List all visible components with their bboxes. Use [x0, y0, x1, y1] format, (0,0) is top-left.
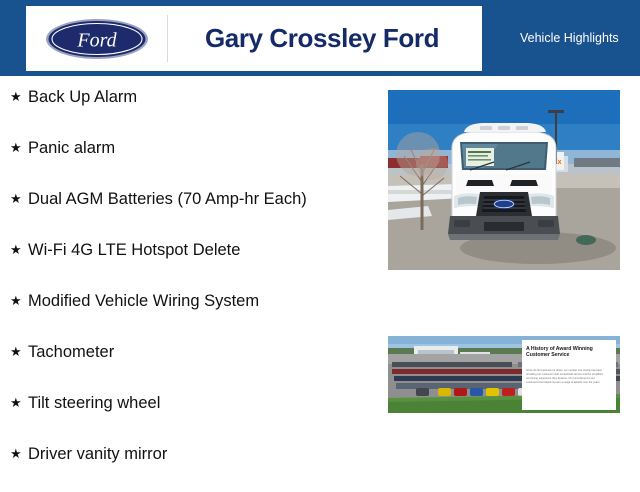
star-bullet-icon: ★: [10, 84, 28, 110]
list-item: ★Wi-Fi 4G LTE Hotspot Delete: [0, 237, 372, 263]
vehicle-highlights-list: ★Back Up Alarm★Panic alarm★Dual AGM Batt…: [0, 84, 372, 492]
highlight-label: Modified Vehicle Wiring System: [28, 288, 366, 314]
award-card-body: Since we first opened our doors, our num…: [526, 369, 606, 385]
star-bullet-icon: ★: [10, 135, 28, 161]
award-card-heading: A History of Award Winning Customer Serv…: [526, 346, 604, 359]
star-bullet-icon: ★: [10, 441, 28, 467]
vehicle-photo[interactable]: Fed Ex: [388, 90, 620, 270]
ford-wordmark: Ford: [76, 29, 117, 51]
page-header: Ford Gary Crossley Ford Vehicle Highligh…: [0, 0, 640, 76]
list-item: ★Tilt steering wheel: [0, 390, 372, 416]
dealer-name: Gary Crossley Ford: [168, 23, 482, 54]
highlight-label: Tachometer: [28, 339, 366, 365]
list-item: ★Modified Vehicle Wiring System: [0, 288, 372, 314]
list-item: ★Driver vanity mirror: [0, 441, 372, 467]
ford-oval-logo-icon: Ford: [26, 6, 167, 71]
highlight-label: Driver vanity mirror: [28, 441, 366, 467]
highlight-label: Back Up Alarm: [28, 84, 366, 110]
highlight-label: Tilt steering wheel: [28, 390, 366, 416]
star-bullet-icon: ★: [10, 237, 28, 263]
star-bullet-icon: ★: [10, 186, 28, 212]
dealer-brand-card: Ford Gary Crossley Ford: [26, 6, 482, 71]
list-item: ★Back Up Alarm: [0, 84, 372, 110]
section-label-vehicle-highlights: Vehicle Highlights: [492, 0, 640, 76]
list-item: ★Tachometer: [0, 339, 372, 365]
star-bullet-icon: ★: [10, 288, 28, 314]
star-bullet-icon: ★: [10, 390, 28, 416]
list-item: ★Panic alarm: [0, 135, 372, 161]
highlight-label: Wi-Fi 4G LTE Hotspot Delete: [28, 237, 366, 263]
star-bullet-icon: ★: [10, 339, 28, 365]
highlight-label: Panic alarm: [28, 135, 366, 161]
dealership-photo[interactable]: A History of Award Winning Customer Serv…: [388, 336, 620, 413]
list-item: ★Dual AGM Batteries (70 Amp-hr Each): [0, 186, 372, 212]
highlight-label: Dual AGM Batteries (70 Amp-hr Each): [28, 186, 366, 212]
